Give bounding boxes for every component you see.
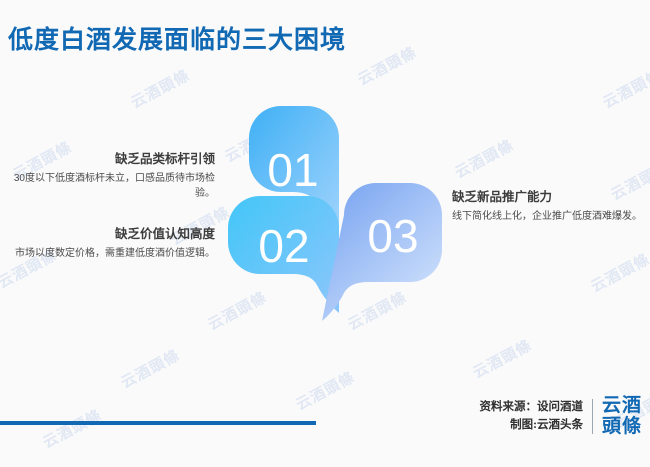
bubble-03-number: 03 <box>367 210 418 262</box>
footer: 资料来源：设问酒道 制图:云酒头条 云酒 頭條 <box>479 396 642 437</box>
source-credit: 资料来源：设问酒道 制图:云酒头条 <box>479 399 593 435</box>
bubble-03: 03 <box>322 183 442 321</box>
item-3-text: 缺乏新品推广能力 线下简化线上化，企业推广低度酒难爆发。 <box>452 188 642 224</box>
item-2-heading: 缺乏价值认知高度 <box>10 225 215 244</box>
item-1-heading: 缺乏品类标杆引领 <box>10 150 215 169</box>
item-2-text: 缺乏价值认知高度 市场以度数定价格，需重建低度酒价值逻辑。 <box>10 225 215 261</box>
bubble-02-number: 02 <box>258 220 309 272</box>
page-title: 低度白酒发展面临的三大困境 <box>8 20 346 56</box>
brand-logo: 云酒 頭條 <box>593 396 642 437</box>
source-line-2: 制图:云酒头条 <box>479 417 583 435</box>
source-line-1: 资料来源：设问酒道 <box>479 399 583 417</box>
brand-logo-line-1: 云酒 <box>602 396 642 417</box>
item-1-text: 缺乏品类标杆引领 30度以下低度酒标杆未立，口感品质待市场检验。 <box>10 150 215 202</box>
bubble-01-number: 01 <box>267 144 318 196</box>
infographic-canvas: 云酒頭條云酒頭條云酒頭條云酒頭條云酒頭條云酒頭條云酒頭條云酒頭條云酒頭條云酒頭條… <box>0 0 650 467</box>
bubble-02: 02 <box>228 196 339 313</box>
item-3-heading: 缺乏新品推广能力 <box>452 188 642 207</box>
footer-divider-rule <box>0 421 316 425</box>
item-2-body: 市场以度数定价格，需重建低度酒价值逻辑。 <box>10 246 215 262</box>
item-3-body: 线下简化线上化，企业推广低度酒难爆发。 <box>452 209 642 225</box>
item-1-body: 30度以下低度酒标杆未立，口感品质待市场检验。 <box>10 171 215 202</box>
brand-logo-line-2: 頭條 <box>602 417 642 438</box>
